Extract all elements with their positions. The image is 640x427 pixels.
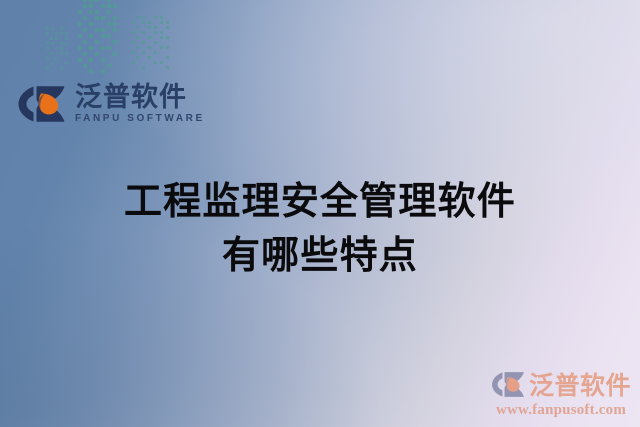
watermark-url: www.fanpusoft.com xyxy=(490,402,632,419)
brand-name-cn: 泛普软件 xyxy=(75,84,205,111)
headline-line-1: 工程监理安全管理软件 xyxy=(0,176,640,230)
brand-name-en: FANPU SOFTWARE xyxy=(75,114,205,124)
pixel-skyline-pattern-icon xyxy=(36,0,186,74)
watermark-logo-row: 泛普软件 xyxy=(490,366,632,402)
brand-wordmark: 泛普软件 FANPU SOFTWARE xyxy=(75,84,205,124)
banner-headline: 工程监理安全管理软件 有哪些特点 xyxy=(0,176,640,284)
fanpu-watermark-mark-icon xyxy=(491,371,525,398)
headline-line-2: 有哪些特点 xyxy=(0,230,640,284)
brand-logo-lockup: 泛普软件 FANPU SOFTWARE xyxy=(17,84,205,124)
watermark-brand-cn: 泛普软件 xyxy=(529,366,631,402)
site-watermark: 泛普软件 www.fanpusoft.com xyxy=(490,366,632,419)
promo-banner: 泛普软件 FANPU SOFTWARE 工程监理安全管理软件 有哪些特点 泛普软… xyxy=(0,0,640,427)
fanpu-logo-mark-icon xyxy=(17,85,66,123)
